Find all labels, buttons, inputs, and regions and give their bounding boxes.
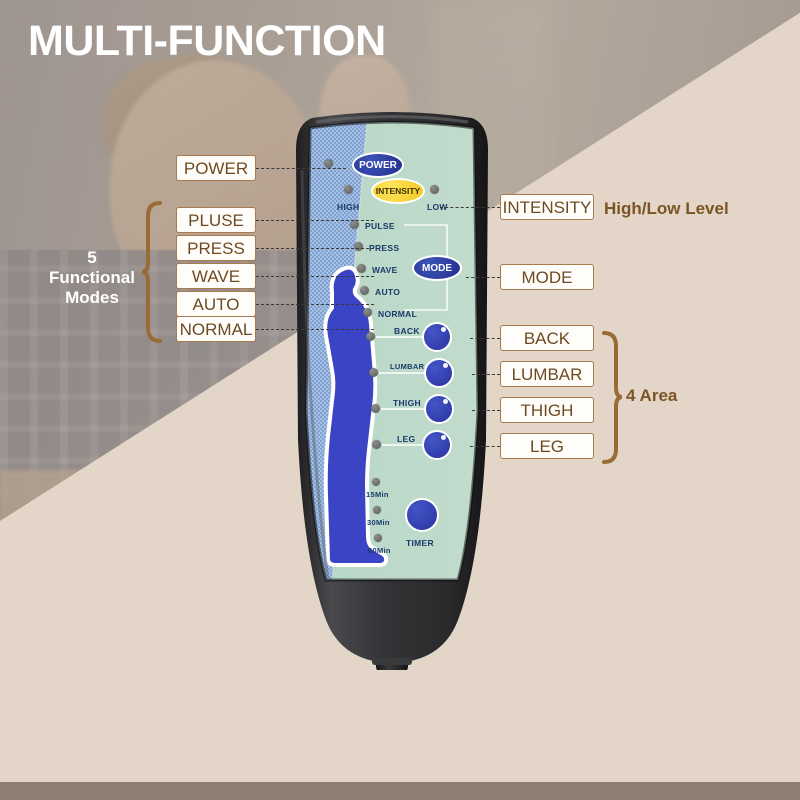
area-led-lumbar	[369, 368, 378, 377]
leader-intensity	[440, 207, 500, 208]
leader-leg	[470, 446, 500, 447]
device-mode-button[interactable]: MODE	[412, 255, 462, 281]
leader-wave	[256, 276, 374, 277]
timer-led-60	[374, 534, 382, 542]
back-button-highlight	[441, 327, 446, 332]
callout-normal[interactable]: NORMAL	[176, 316, 256, 342]
device-label-auto: AUTO	[375, 287, 400, 297]
device-back-button[interactable]	[422, 322, 452, 352]
leader-press	[256, 248, 374, 249]
leader-pluse	[256, 220, 374, 221]
device-label-timer: TIMER	[406, 538, 434, 548]
leader-mode	[466, 277, 500, 278]
leader-normal	[256, 329, 374, 330]
device-label-wave: WAVE	[372, 265, 398, 275]
leader-back	[470, 338, 500, 339]
intensity-note: High/Low Level	[604, 199, 729, 219]
timer-led-30	[373, 506, 381, 514]
left-group-label-line1: 5	[44, 248, 140, 268]
area-led-leg	[372, 440, 381, 449]
mode-led-auto	[360, 286, 369, 295]
leader-lumbar	[472, 374, 500, 375]
timer-led-15	[372, 478, 380, 486]
left-group-brace	[140, 200, 164, 344]
right-group-brace	[600, 330, 624, 465]
mode-led-wave	[357, 264, 366, 273]
device-label-high: HIGH	[337, 202, 359, 212]
callout-leg[interactable]: LEG	[500, 433, 594, 459]
device-label-pulse: PULSE	[365, 221, 395, 231]
intensity-low-led	[430, 185, 439, 194]
callout-wave[interactable]: WAVE	[176, 263, 256, 289]
left-group-label: 5 Functional Modes	[44, 248, 140, 308]
intensity-high-led	[344, 185, 353, 194]
callout-auto[interactable]: AUTO	[176, 291, 256, 317]
device-intensity-button[interactable]: INTENSITY	[371, 178, 425, 204]
callout-thigh[interactable]: THIGH	[500, 397, 594, 423]
area-led-thigh	[371, 404, 380, 413]
callout-pluse[interactable]: PLUSE	[176, 207, 256, 233]
callout-intensity[interactable]: INTENSITY	[500, 194, 594, 220]
left-group-label-line3: Modes	[44, 288, 140, 308]
callout-power[interactable]: POWER	[176, 155, 256, 181]
mode-led-normal	[363, 308, 372, 317]
callout-lumbar[interactable]: LUMBAR	[500, 361, 594, 387]
mode-led-press	[354, 242, 363, 251]
leader-auto	[256, 304, 374, 305]
lumbar-button-highlight	[443, 363, 448, 368]
device-lumbar-button[interactable]	[424, 358, 454, 388]
remote-control-device: POWER INTENSITY HIGH LOW PULSE PRESS WAV…	[272, 110, 512, 670]
device-thigh-button[interactable]	[424, 394, 454, 424]
device-leg-button[interactable]	[422, 430, 452, 460]
power-indicator-led	[324, 159, 333, 168]
device-label-15min: 15Min	[366, 490, 389, 499]
right-group-label: 4 Area	[626, 386, 706, 406]
device-timer-button[interactable]	[405, 498, 439, 532]
area-led-back	[366, 332, 375, 341]
page-title: MULTI-FUNCTION	[28, 20, 386, 63]
cable-strain-relief	[372, 658, 412, 670]
thigh-button-highlight	[443, 399, 448, 404]
device-label-30min: 30Min	[367, 518, 390, 527]
callout-back[interactable]: BACK	[500, 325, 594, 351]
bottom-bar	[0, 782, 800, 800]
device-label-60min: 60Min	[368, 546, 391, 555]
callout-press[interactable]: PRESS	[176, 235, 256, 261]
mode-led-pulse	[350, 220, 359, 229]
left-group-label-line2: Functional	[44, 268, 140, 288]
leader-thigh	[472, 410, 500, 411]
leader-power	[256, 168, 346, 169]
device-power-button[interactable]: POWER	[352, 152, 404, 178]
callout-mode[interactable]: MODE	[500, 264, 594, 290]
infographic-canvas: MULTI-FUNCTION	[0, 0, 800, 800]
leg-button-highlight	[441, 435, 446, 440]
